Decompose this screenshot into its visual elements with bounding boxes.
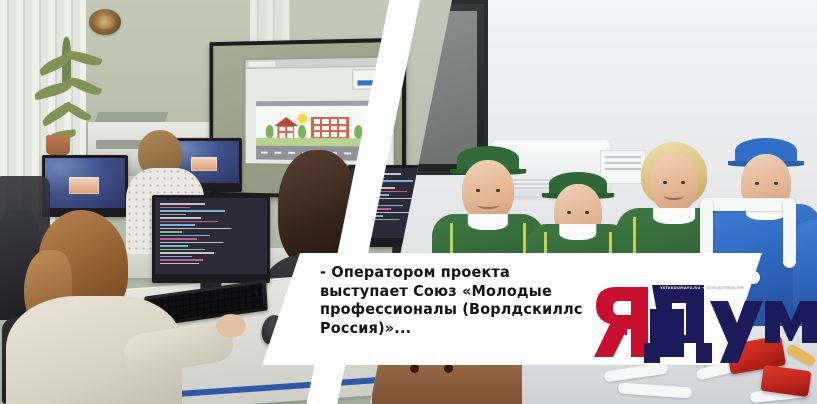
student-foreground [20,210,170,404]
small-building [278,125,294,138]
caption-text: - Оператором проекта выступает Союз «Мол… [320,263,701,337]
face [650,154,698,212]
tree-icon [298,125,306,138]
monitor-back-left [42,155,128,217]
caption-banner: - Оператором проекта выступает Союз «Мол… [262,253,762,365]
student-blue-uniform-2 [800,146,817,326]
large-building [311,117,349,139]
blue-work-jacket [793,220,817,326]
tree-icon [265,125,273,138]
decorative-wall-plate [89,9,121,35]
image-composite: - Оператором проекта выступает Союз «Мол… [0,0,817,404]
browser-toolbar [246,57,394,68]
flower-pot [46,135,70,155]
sun-icon [298,114,307,123]
face [462,160,514,222]
